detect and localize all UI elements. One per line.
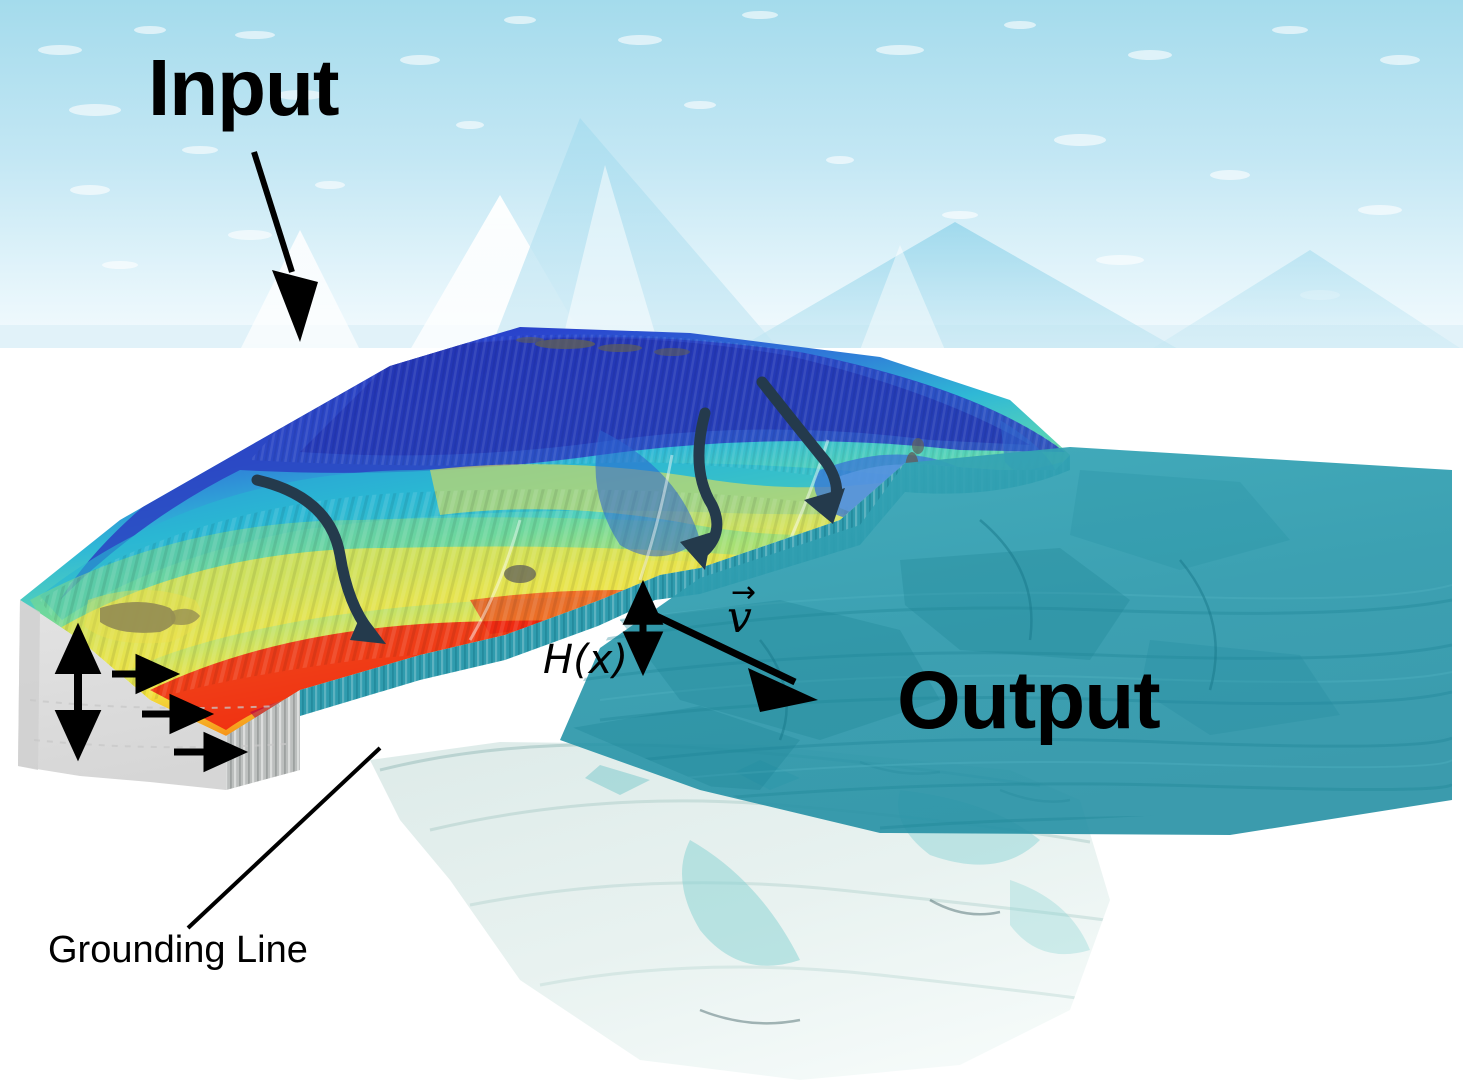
velocity-label: → v bbox=[727, 596, 752, 640]
grounding-line-label: Grounding Line bbox=[48, 931, 308, 969]
output-label: Output bbox=[897, 660, 1160, 742]
ice-sheet-schematic bbox=[0, 0, 1463, 1091]
input-label: Input bbox=[148, 48, 338, 128]
figure-canvas: Input Output H(x) → v Grounding Line bbox=[0, 0, 1463, 1091]
ice-thickness-label: H(x) bbox=[543, 640, 628, 680]
vector-arrow-icon: → bbox=[731, 578, 756, 608]
